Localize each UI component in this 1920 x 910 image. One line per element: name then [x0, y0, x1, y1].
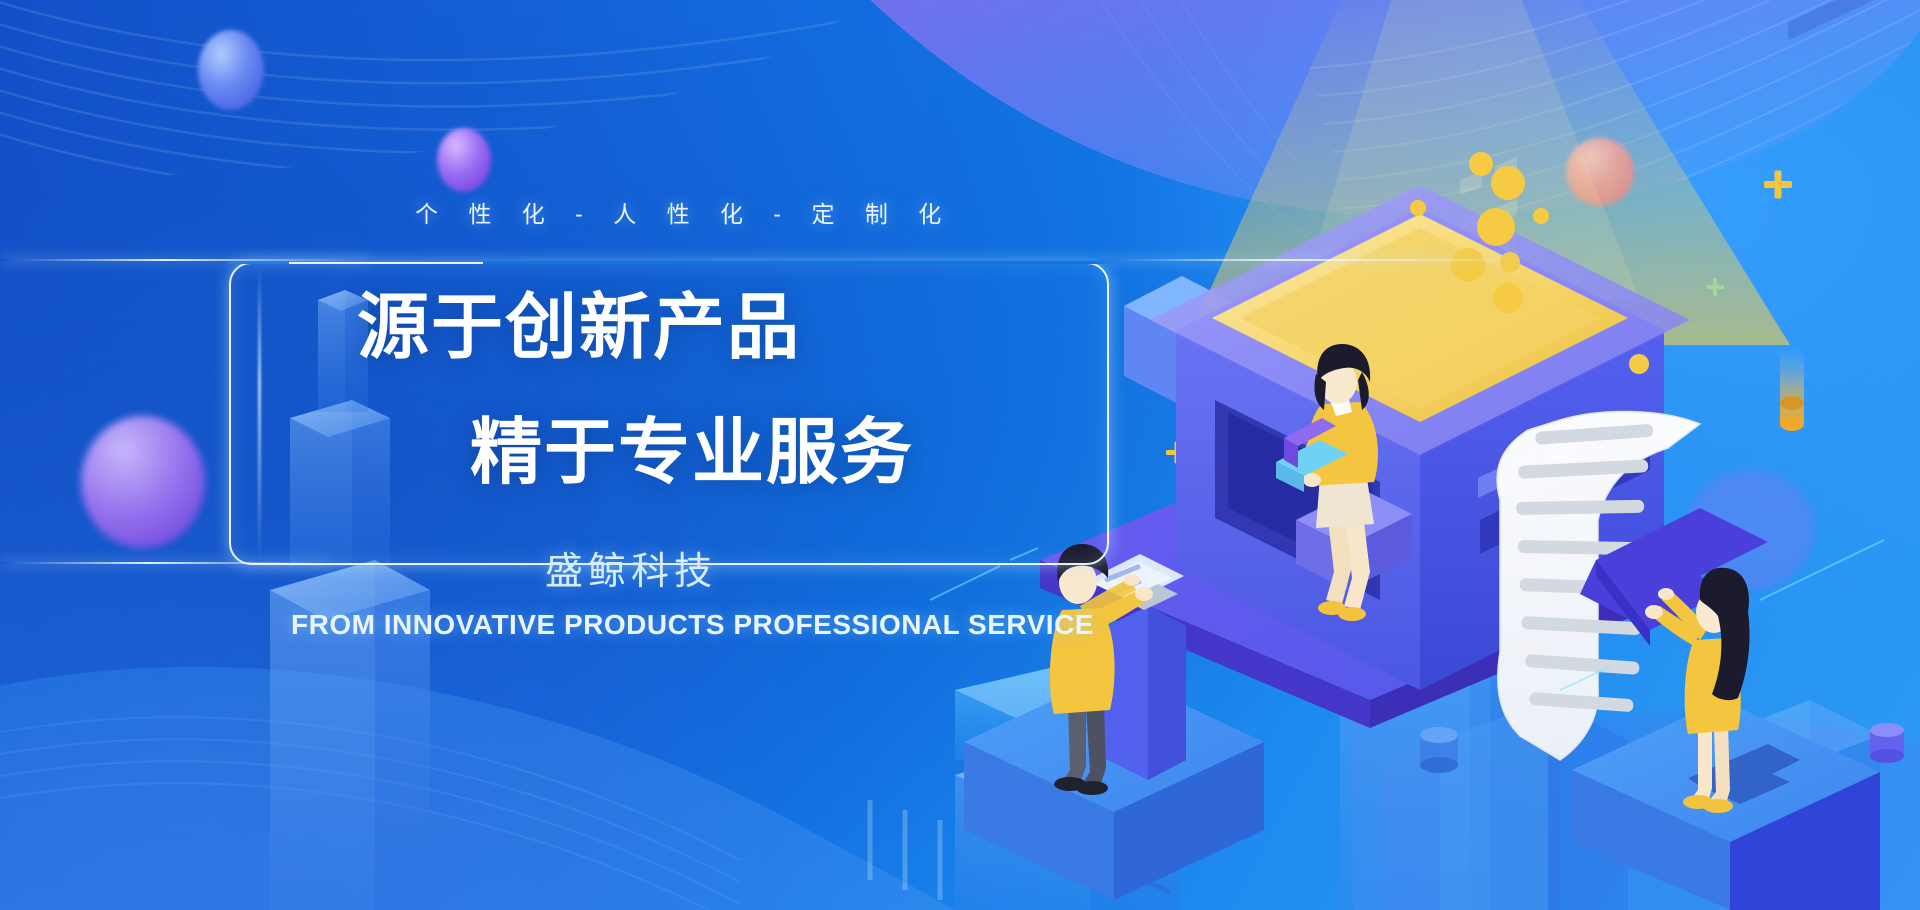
divider-top-right [1100, 259, 1520, 261]
paper-printout [1497, 411, 1700, 760]
english-subtitle: FROM INNOVATIVE PRODUCTS PROFESSIONAL SE… [291, 609, 1094, 641]
blue-cylinder [1420, 727, 1458, 773]
cyan-plus [1706, 278, 1724, 296]
hero-banner: 个 性 化 - 人 性 化 - 定 制 化 源于创新产品 精于专业服务 盛鲸科技… [0, 0, 1920, 910]
headline-line-1: 源于创新产品 [357, 292, 801, 364]
yellow-plus-right [1764, 171, 1792, 199]
platform-right [1572, 0, 1880, 910]
violet-dome [1686, 470, 1814, 590]
violet-arrow-plate [1580, 508, 1768, 646]
paper-text-lines [1516, 424, 1654, 712]
violet-cylinder [1870, 723, 1904, 763]
glow-dots [1410, 152, 1649, 374]
divider-bottom [0, 562, 330, 564]
light-streak [258, 266, 261, 561]
pink-sphere [1566, 138, 1634, 206]
gold-tray-rim [1150, 185, 1690, 455]
headline-line-2: 精于专业服务 [470, 417, 914, 489]
yellow-plus-left [1166, 442, 1188, 464]
divider-top-left [0, 259, 370, 261]
gold-tray [1212, 214, 1628, 422]
woman-with-laptop [1276, 344, 1412, 621]
woman-holding-printout [1645, 568, 1750, 813]
tagline: 个 性 化 - 人 性 化 - 定 制 化 [415, 195, 953, 229]
brand-name: 盛鲸科技 [545, 540, 717, 595]
hero-text-block: 个 性 化 - 人 性 化 - 定 制 化 源于创新产品 精于专业服务 盛鲸科技… [0, 0, 1160, 910]
golden-light-beam [1185, 0, 1790, 345]
yellow-cylinder [1780, 346, 1804, 431]
yellow-ring [1253, 333, 1275, 355]
arrow-marker [1688, 744, 1800, 804]
